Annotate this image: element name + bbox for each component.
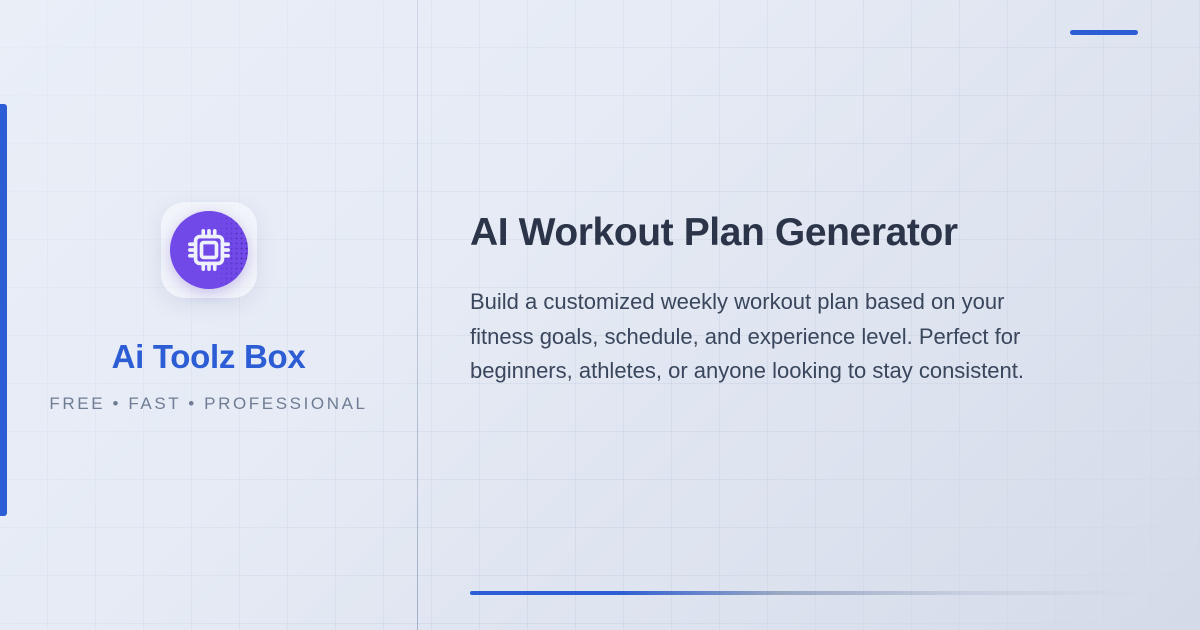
- page-description: Build a customized weekly workout plan b…: [470, 285, 1070, 389]
- cpu-chip-ai-icon: Ai: [186, 227, 232, 273]
- card-layout: Ai Ai Toolz Box FREE • FAST • PROFESSION…: [0, 0, 1200, 630]
- page-title: AI Workout Plan Generator: [470, 211, 1090, 256]
- content-panel: AI Workout Plan Generator Build a custom…: [417, 0, 1200, 630]
- logo-glyph-text: Ai: [203, 246, 214, 258]
- logo-circle: Ai: [170, 211, 248, 289]
- brand-name: Ai Toolz Box: [112, 340, 306, 373]
- brand-tagline: FREE • FAST • PROFESSIONAL: [49, 395, 367, 412]
- og-preview-card: Ai Ai Toolz Box FREE • FAST • PROFESSION…: [0, 0, 1200, 630]
- brand-panel: Ai Ai Toolz Box FREE • FAST • PROFESSION…: [0, 0, 417, 630]
- logo-plate: Ai: [161, 202, 257, 298]
